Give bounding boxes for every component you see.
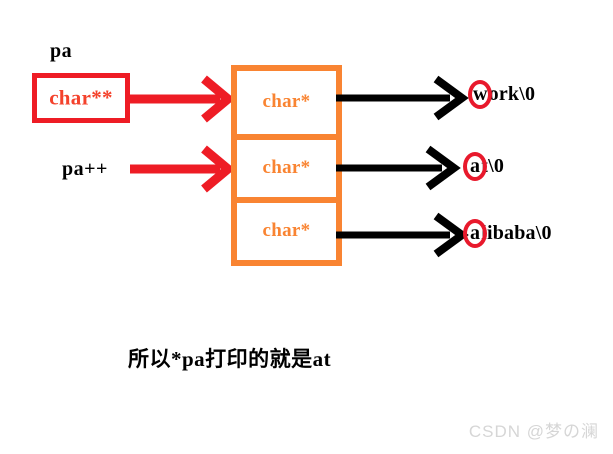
pointer-box-label: char**: [37, 86, 125, 111]
diagram-canvas: pa char** pa++ char* char* char*: [0, 0, 613, 454]
array-cell-label: char*: [237, 220, 336, 242]
string-literal-work: work\0: [472, 83, 535, 106]
black-arrow-to-at: [336, 146, 460, 190]
array-cell-label: char*: [237, 91, 336, 113]
pointer-increment-label: pa++: [62, 158, 108, 181]
string-literal-at: at\0: [469, 155, 504, 178]
array-cell-label: char*: [237, 157, 336, 179]
red-arrow-pa-plus-plus: [130, 146, 234, 192]
pointer-top-label: pa: [50, 40, 72, 63]
array-cell: char*: [237, 197, 336, 260]
string-rest: libaba\0: [481, 222, 552, 244]
string-literal-alibaba: alibaba\0: [469, 222, 552, 245]
caption-text: 所以*pa打印的就是at: [128, 343, 331, 373]
array-cell: char*: [237, 71, 336, 134]
char-pointer-array: char* char* char*: [231, 65, 342, 266]
circled-first-char: w: [472, 83, 489, 106]
array-cell: char*: [237, 134, 336, 197]
circled-first-char: a: [469, 155, 481, 178]
black-arrow-to-work: [336, 76, 468, 120]
red-arrow-pa: [128, 76, 234, 122]
csdn-watermark: CSDN @梦の澜: [469, 417, 599, 442]
black-arrow-to-alibaba: [336, 213, 468, 257]
pointer-box: char**: [32, 73, 130, 123]
circled-first-char: a: [469, 222, 481, 245]
string-rest: ork\0: [489, 83, 536, 105]
string-rest: t\0: [481, 155, 504, 177]
